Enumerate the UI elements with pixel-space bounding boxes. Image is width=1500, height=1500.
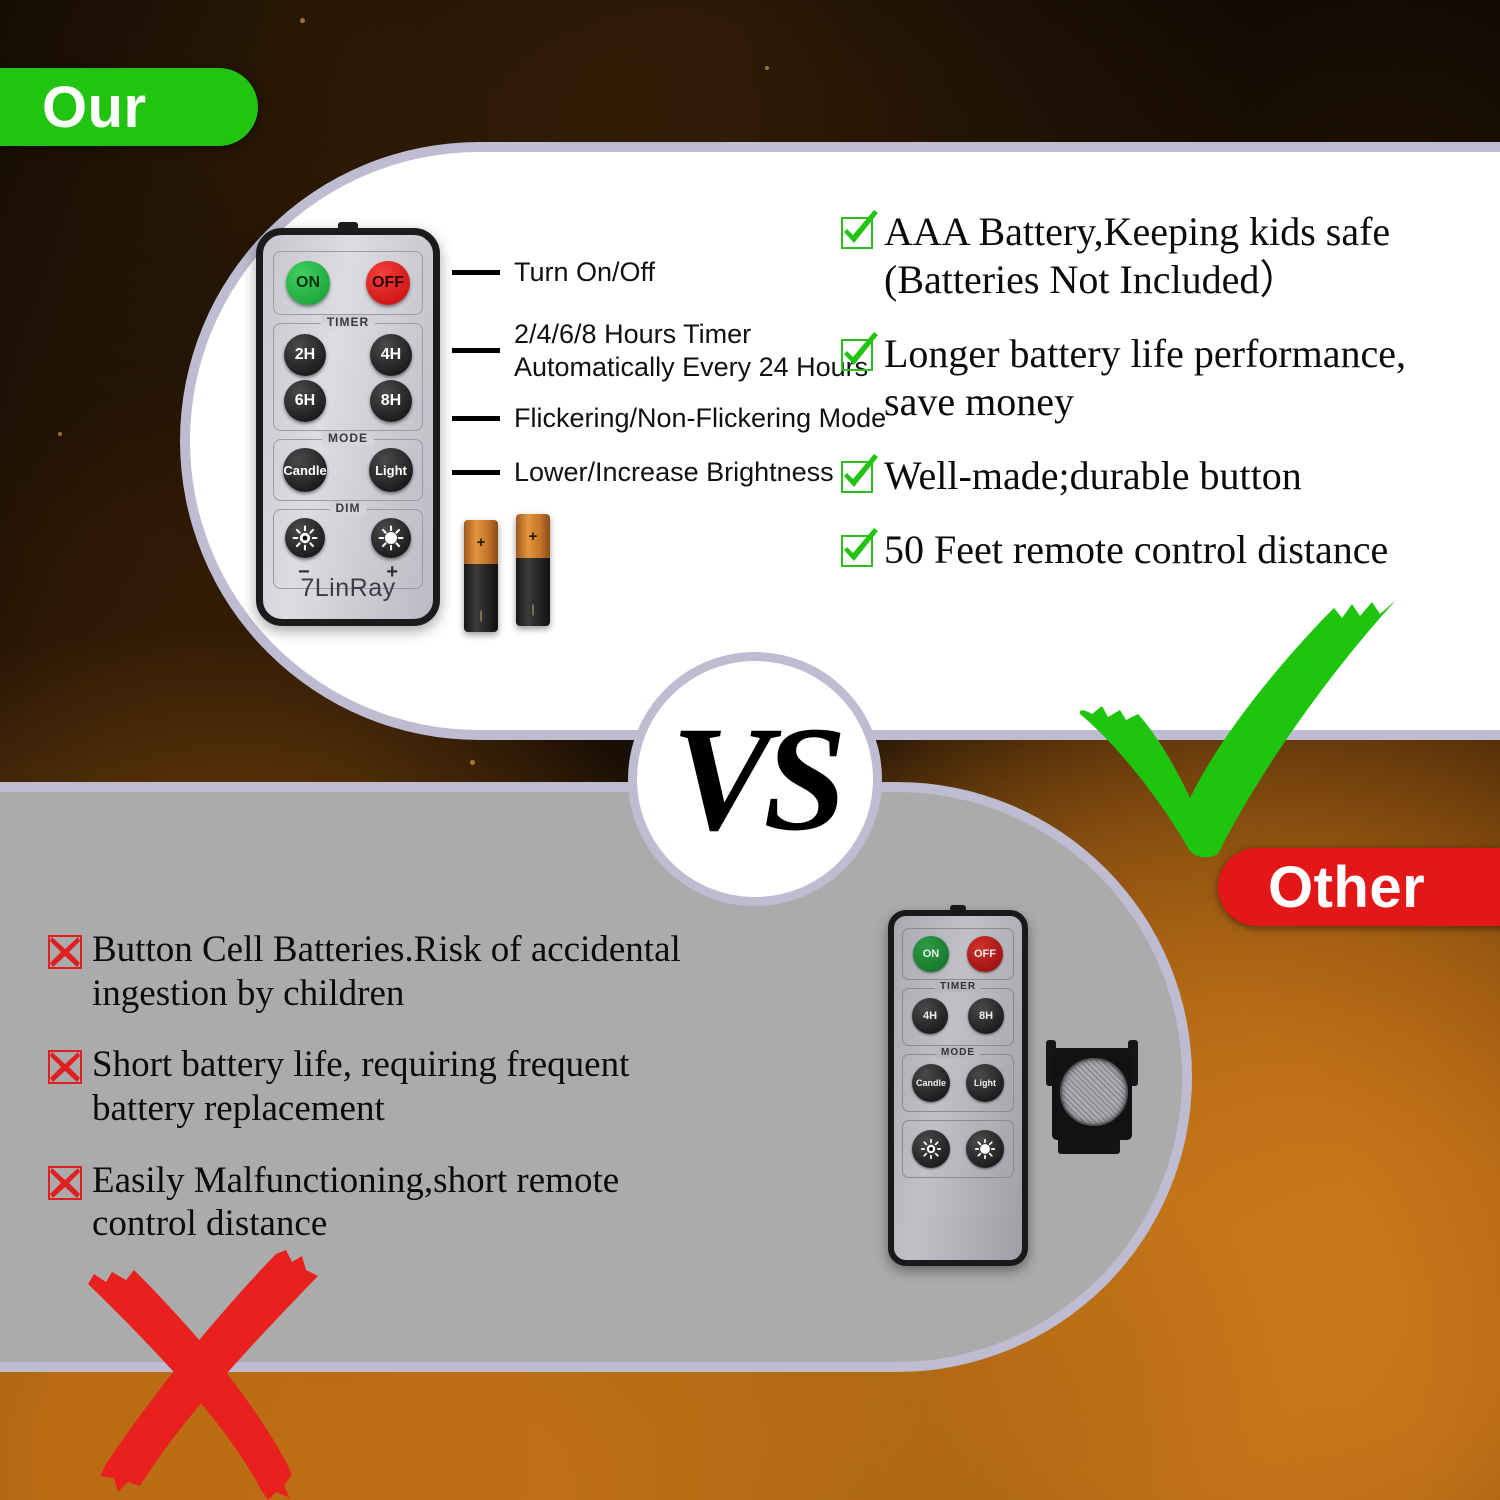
big-green-check-icon: [1066, 586, 1416, 866]
timer-4h-button[interactable]: 4H: [912, 998, 948, 1034]
callout-text: Turn On/Off: [514, 256, 655, 289]
mode-candle-button[interactable]: Candle: [912, 1064, 950, 1102]
mode-light-button[interactable]: Light: [966, 1064, 1004, 1102]
con-item: Short battery life, requiring frequent b…: [48, 1043, 788, 1130]
spark-dot: [765, 66, 769, 70]
pro-item: AAA Battery,Keeping kids safe (Batteries…: [838, 208, 1498, 304]
con-text: Easily Malfunctioning,short remote contr…: [92, 1159, 619, 1246]
callout-text: Flickering/Non-Flickering Mode: [514, 402, 886, 435]
dim-down-button[interactable]: [912, 1130, 950, 1168]
x-icon: [48, 1166, 82, 1200]
mode-button-group: MODE Candle Light: [902, 1054, 1014, 1112]
callout-mode: Flickering/Non-Flickering Mode: [452, 402, 886, 435]
our-badge: Our: [0, 68, 258, 146]
dim-up-button[interactable]: [371, 518, 411, 558]
timer-group-label: TIMER: [935, 981, 981, 992]
timer-button-group: TIMER 4H 8H: [902, 988, 1014, 1046]
timer-group-label: TIMER: [321, 315, 375, 329]
spark-dot: [300, 18, 305, 23]
timer-6h-button[interactable]: 6H: [284, 380, 326, 422]
con-text: Short battery life, requiring frequent b…: [92, 1043, 629, 1130]
con-text: Button Cell Batteries.Risk of accidental…: [92, 928, 681, 1015]
pro-item: Well-made;durable button: [838, 452, 1498, 500]
power-off-button[interactable]: OFF: [967, 936, 1003, 972]
dim-up-button[interactable]: [966, 1130, 1004, 1168]
power-button-group: ON OFF: [902, 928, 1014, 980]
pro-text: Well-made;durable button: [884, 452, 1302, 500]
remote-brand-label: 7LinRay: [263, 574, 433, 603]
timer-2h-button[interactable]: 2H: [284, 334, 326, 376]
check-icon: [838, 458, 876, 496]
callout-line: [452, 416, 500, 421]
callout-line: [452, 348, 500, 353]
other-badge: Other: [1218, 848, 1500, 926]
power-off-button[interactable]: OFF: [366, 261, 410, 305]
other-remote-control: ON OFF TIMER 4H 8H MODE Candle Light: [888, 910, 1028, 1266]
coin-cell-battery: [1046, 1040, 1138, 1148]
check-icon: [838, 532, 876, 570]
pro-text: 50 Feet remote control distance: [884, 526, 1388, 574]
battery-minus-mark: |: [516, 602, 550, 616]
check-icon: [838, 214, 876, 252]
x-icon: [48, 1050, 82, 1084]
con-item: Button Cell Batteries.Risk of accidental…: [48, 928, 788, 1015]
vs-badge: VS: [628, 652, 882, 906]
our-remote-control: ON OFF TIMER 2H 4H 6H 8H MODE Candle Lig…: [256, 228, 440, 626]
mode-candle-button[interactable]: Candle: [283, 448, 327, 492]
x-icon: [48, 935, 82, 969]
mode-light-button[interactable]: Light: [369, 448, 413, 492]
big-red-x-icon: [78, 1248, 368, 1500]
pro-text: Longer battery life performance, save mo…: [884, 330, 1406, 426]
pro-item: Longer battery life performance, save mo…: [838, 330, 1498, 426]
power-on-button[interactable]: ON: [286, 261, 330, 305]
infographic-stage: ON OFF TIMER 2H 4H 6H 8H MODE Candle Lig…: [0, 0, 1500, 1500]
cons-list: Button Cell Batteries.Risk of accidental…: [48, 928, 788, 1274]
callout-text: 2/4/6/8 Hours Timer Automatically Every …: [514, 318, 868, 384]
callout-line: [452, 270, 500, 275]
timer-8h-button[interactable]: 8H: [370, 380, 412, 422]
con-item: Easily Malfunctioning,short remote contr…: [48, 1159, 788, 1246]
ir-emitter-nub: [338, 222, 358, 230]
timer-button-group: TIMER 2H 4H 6H 8H: [273, 323, 423, 431]
coin-cell: [1060, 1058, 1128, 1126]
brightness-high-icon: [974, 1138, 996, 1160]
brightness-high-icon: [378, 525, 404, 551]
timer-8h-button[interactable]: 8H: [968, 998, 1004, 1034]
callout-line: [452, 470, 500, 475]
spark-dot: [58, 432, 62, 436]
mode-group-label: MODE: [936, 1047, 980, 1058]
callout-timer: 2/4/6/8 Hours Timer Automatically Every …: [452, 318, 868, 384]
aaa-battery: + |: [464, 520, 498, 632]
ir-emitter-nub: [950, 905, 966, 912]
dim-down-button[interactable]: [285, 518, 325, 558]
timer-4h-button[interactable]: 4H: [370, 334, 412, 376]
callout-dim: Lower/Increase Brightness: [452, 456, 834, 489]
pro-item: 50 Feet remote control distance: [838, 526, 1498, 574]
pro-text: AAA Battery,Keeping kids safe (Batteries…: [884, 208, 1390, 304]
check-icon: [838, 336, 876, 374]
power-button-group: ON OFF: [273, 251, 423, 315]
pros-list: AAA Battery,Keeping kids safe (Batteries…: [838, 208, 1498, 600]
dim-button-group: [902, 1120, 1014, 1178]
callout-text: Lower/Increase Brightness: [514, 456, 834, 489]
battery-plus-mark: +: [464, 534, 498, 551]
brightness-low-icon: [292, 525, 318, 551]
power-on-button[interactable]: ON: [913, 936, 949, 972]
brightness-low-icon: [920, 1138, 942, 1160]
holder-foot: [1058, 1138, 1120, 1154]
battery-plus-mark: +: [516, 528, 550, 545]
callout-power: Turn On/Off: [452, 256, 655, 289]
spark-dot: [470, 760, 475, 765]
aaa-battery: + |: [516, 514, 550, 626]
dim-group-label: DIM: [330, 501, 367, 515]
mode-group-label: MODE: [322, 431, 374, 445]
mode-button-group: MODE Candle Light: [273, 439, 423, 501]
battery-minus-mark: |: [464, 608, 498, 622]
